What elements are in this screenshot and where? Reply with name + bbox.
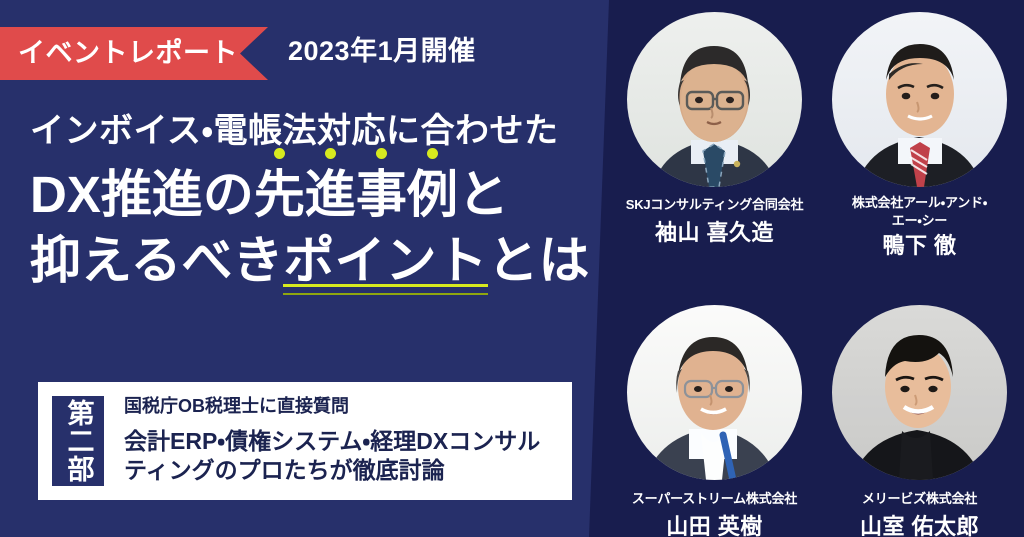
session-title-line-2: ティングのプロたちが徹底討論 [124,456,572,485]
session-info-box: 第二部 国税庁OB税理士に直接質問 会計ERP・債権システム・経理DXコンサル … [38,382,572,500]
headline-line-2-suffix: と [458,165,509,225]
event-report-ribbon: イベントレポート [0,27,268,80]
event-report-banner: イベントレポート 2023年1月開催 インボイス・電帳法対応に合わせた DX推進… [0,0,1024,537]
session-subtitle: 国税庁OB税理士に直接質問 [124,396,572,418]
speaker-card-3: スーパーストリーム株式会社 山田 英樹 [612,305,817,537]
speaker-company-2: 株式会社アール・アンド・ エー・シー [817,194,1022,229]
speaker-company-3: スーパーストリーム株式会社 [612,490,817,508]
session-info-texts: 国税庁OB税理士に直接質問 会計ERP・債権システム・経理DXコンサル ティング… [124,396,572,485]
headline-line-2-prefix: DX推進の [30,165,254,225]
speaker-photo-1 [627,12,802,187]
session-title-line-1: 会計ERP・債権システム・経理DXコンサル [124,427,572,456]
speaker-name-2: 鴨下 徹 [817,234,1022,258]
speaker-photo-4 [832,305,1007,480]
session-title: 会計ERP・債権システム・経理DXコンサル ティングのプロたちが徹底討論 [124,427,572,486]
headline-emphasis-word: 先進事例 [254,165,458,225]
headline-line-3: 抑えるべき ポイント とは [30,231,605,291]
headline-underlined-word: ポイント [283,231,487,291]
speaker-card-1: SKJコンサルティング合同会社 袖山 喜久造 [612,12,817,245]
speaker-photo-3 [627,305,802,480]
speaker-photo-2 [832,12,1007,187]
headline-emphasis-text: 先進事例 [254,166,458,223]
headline-block: インボイス・電帳法対応に合わせた DX推進の 先進事例 と 抑えるべき ポイント… [30,112,605,291]
ribbon-label: イベントレポート [18,40,238,67]
part-number-badge: 第二部 [50,394,106,488]
speaker-name-3: 山田 英樹 [612,515,817,537]
speaker-company-2-line-1: 株式会社アール・アンド・ [817,194,1022,212]
speaker-name-4: 山室 佑太郎 [817,515,1022,537]
headline-line-1: インボイス・電帳法対応に合わせた [30,112,605,151]
headline-line-3-suffix: とは [488,231,590,291]
speaker-company-1: SKJコンサルティング合同会社 [612,196,817,214]
speaker-company-4: メリービズ株式会社 [817,490,1022,508]
speaker-card-2: 株式会社アール・アンド・ エー・シー 鴨下 徹 [817,12,1022,258]
headline-line-3-prefix: 抑えるべき [30,231,283,291]
speaker-card-4: メリービズ株式会社 山室 佑太郎 [817,305,1022,537]
event-date-text: 2023年1月開催 [288,30,476,73]
speaker-name-1: 袖山 喜久造 [612,221,817,245]
speaker-company-2-line-2: エー・シー [817,212,1022,230]
headline-line-2: DX推進の 先進事例 と [30,165,605,225]
